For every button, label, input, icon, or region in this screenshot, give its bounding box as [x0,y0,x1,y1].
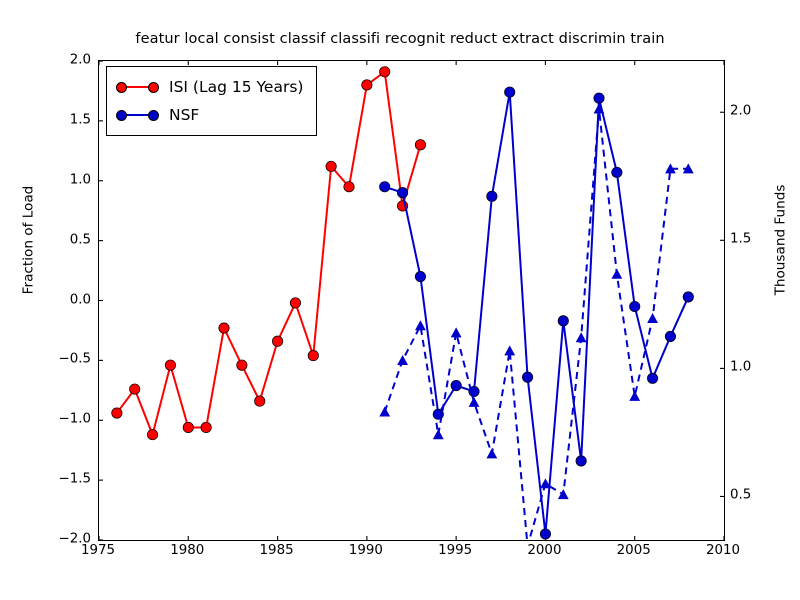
data-point [237,360,247,370]
x-tick-1: 1980 [170,543,204,558]
data-point [487,191,497,201]
data-point [201,422,211,432]
chart-legend[interactable]: ISI (Lag 15 Years) NSF [106,66,317,136]
y-tick-left-1: −1.5 [58,472,91,487]
data-point [558,489,569,499]
y-axis-left-label: Fraction of Load [18,0,38,479]
data-point [611,269,622,279]
data-point [576,456,586,466]
data-point [433,429,444,439]
data-point [255,396,265,406]
data-point [683,292,693,302]
y-tick-right-1: 1.0 [730,360,751,375]
y-tick-left-4: 0.0 [70,292,91,307]
y-tick-left-8: 2.0 [70,53,91,68]
y-axis-left-label-text: Fraction of Load [20,185,36,294]
x-tick-2: 1985 [260,543,294,558]
data-point [504,345,515,355]
data-point [469,397,480,407]
y-tick-left-7: 1.5 [70,112,91,127]
legend-item-isi[interactable]: ISI (Lag 15 Years) [116,73,303,101]
data-point [576,332,587,342]
data-point [308,350,318,360]
data-point [397,188,407,198]
figure-canvas: featur local consist classif classifi re… [0,0,800,600]
y-tick-left-2: −1.0 [58,412,91,427]
data-point [147,429,157,439]
data-point [326,161,336,171]
data-point [344,182,354,192]
data-point [451,327,462,337]
data-point [629,391,640,401]
legend-label-isi: ISI (Lag 15 Years) [169,78,303,96]
x-tick-4: 1995 [438,543,472,558]
data-point [380,67,390,77]
data-point [558,316,568,326]
data-point [647,313,658,323]
legend-swatch-isi [116,80,160,94]
data-point [380,182,390,192]
y-tick-right-2: 1.5 [730,232,751,247]
data-point [112,408,122,418]
data-point [397,355,408,365]
data-point [522,372,532,382]
data-point [505,87,515,97]
y-tick-left-5: 0.5 [70,232,91,247]
data-point [362,80,372,90]
y-tick-left-6: 1.0 [70,172,91,187]
x-tick-6: 2005 [617,543,651,558]
data-point [647,373,657,383]
x-tick-0: 1975 [81,543,115,558]
data-point [630,301,640,311]
y-tick-right-0: 0.5 [730,488,751,503]
data-point [183,422,193,432]
data-point [612,167,622,177]
series-line-1 [385,92,689,534]
data-point [415,271,425,281]
data-point [665,331,675,341]
x-tick-5: 2000 [527,543,561,558]
legend-item-nsf[interactable]: NSF [116,101,303,129]
data-point [379,406,390,416]
y-tick-right-3: 2.0 [730,104,751,119]
data-point [272,336,282,346]
data-point [486,448,497,458]
legend-swatch-nsf [116,108,160,122]
x-tick-3: 1990 [349,543,383,558]
x-axis-ticks: 19751980198519901995200020052010 [98,543,723,567]
data-point [594,93,604,103]
data-point [415,320,426,330]
data-point [451,380,461,390]
y-axis-left-ticks: −2.0−1.5−1.0−0.50.00.51.01.52.0 [40,60,91,539]
data-point [290,298,300,308]
y-tick-left-3: −0.5 [58,352,91,367]
data-point [594,104,605,114]
data-point [415,140,425,150]
legend-label-nsf: NSF [169,106,199,124]
data-point [165,360,175,370]
data-point [219,323,229,333]
series-line-2 [385,109,689,540]
chart-title: featur local consist classif classifi re… [0,31,800,47]
x-tick-7: 2010 [706,543,740,558]
y-axis-right-ticks: 0.51.01.52.0 [730,60,780,539]
data-point [130,384,140,394]
data-point [540,529,550,539]
